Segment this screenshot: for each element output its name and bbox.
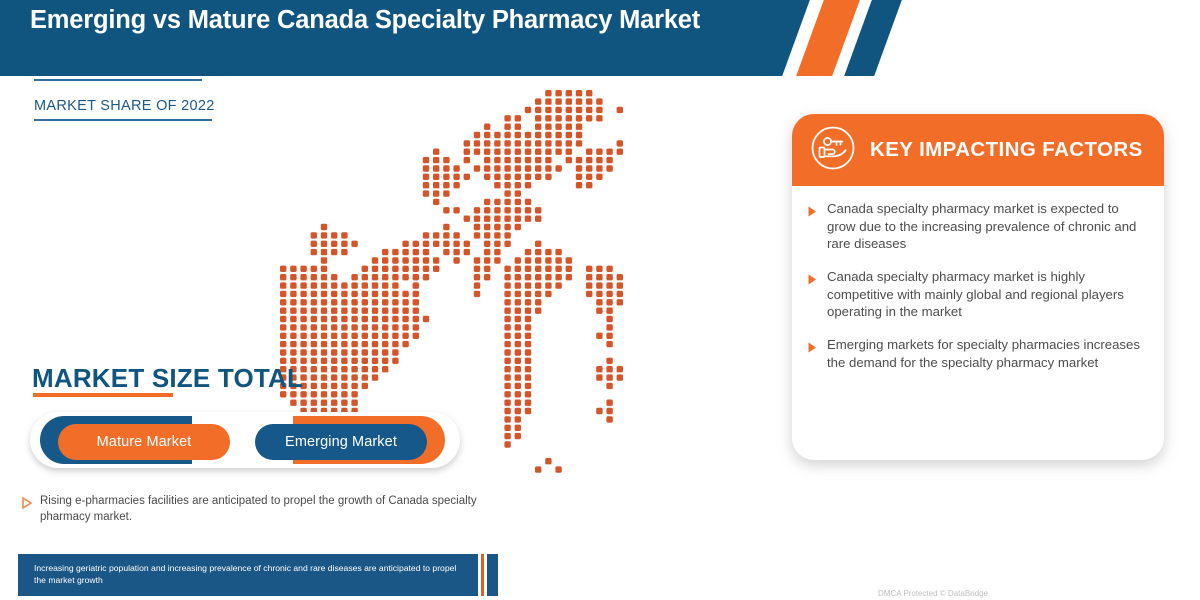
key-impacting-factors-title: KEY IMPACTING FACTORS bbox=[870, 138, 1143, 162]
list-item-text: Canada specialty pharmacy market is expe… bbox=[827, 200, 1144, 253]
market-size-total-underline bbox=[33, 393, 173, 397]
market-share-label: MARKET SHARE OF 2022 bbox=[34, 98, 215, 114]
note-bullet: Rising e-pharmacies facilities are antic… bbox=[22, 494, 502, 526]
key-impacting-factors-card: KEY IMPACTING FACTORS Canada specialty p… bbox=[792, 114, 1164, 460]
triangle-outline-icon bbox=[22, 496, 32, 514]
segment-emerging-label-pill[interactable]: Emerging Market bbox=[255, 424, 427, 460]
list-item: Emerging markets for specialty pharmacie… bbox=[808, 336, 1144, 371]
segment-emerging-market[interactable]: Emerging Market bbox=[245, 416, 455, 464]
key-impacting-factors-list: Canada specialty pharmacy market is expe… bbox=[792, 186, 1164, 387]
list-item-text: Emerging markets for specialty pharmacie… bbox=[827, 336, 1144, 371]
footer-text: Increasing geriatric population and incr… bbox=[34, 562, 464, 587]
list-item-text: Canada specialty pharmacy market is high… bbox=[827, 268, 1144, 321]
hand-holding-key-icon bbox=[810, 125, 856, 176]
segment-mature-label-pill[interactable]: Mature Market bbox=[58, 424, 230, 460]
triangle-bullet-icon bbox=[808, 272, 817, 290]
infographic-canvas: Emerging vs Mature Canada Specialty Phar… bbox=[0, 0, 1200, 600]
market-size-total-title: MARKET SIZE TOTAL bbox=[32, 363, 303, 394]
dmca-watermark: DMCA Protected © DataBridge bbox=[878, 589, 988, 598]
header-divider-rule bbox=[34, 79, 202, 81]
segment-mature-label: Mature Market bbox=[97, 434, 192, 450]
footer-divider-white-2 bbox=[484, 554, 487, 596]
list-item: Canada specialty pharmacy market is expe… bbox=[808, 200, 1144, 253]
market-share-underline bbox=[34, 119, 212, 121]
page-title: Emerging vs Mature Canada Specialty Phar… bbox=[30, 4, 740, 37]
segment-emerging-label: Emerging Market bbox=[285, 434, 397, 450]
triangle-bullet-icon bbox=[808, 204, 817, 222]
list-item: Canada specialty pharmacy market is high… bbox=[808, 268, 1144, 321]
note-text: Rising e-pharmacies facilities are antic… bbox=[40, 494, 502, 526]
triangle-bullet-icon bbox=[808, 340, 817, 358]
key-impacting-factors-header: KEY IMPACTING FACTORS bbox=[792, 114, 1164, 186]
segment-mature-market[interactable]: Mature Market bbox=[40, 416, 240, 464]
